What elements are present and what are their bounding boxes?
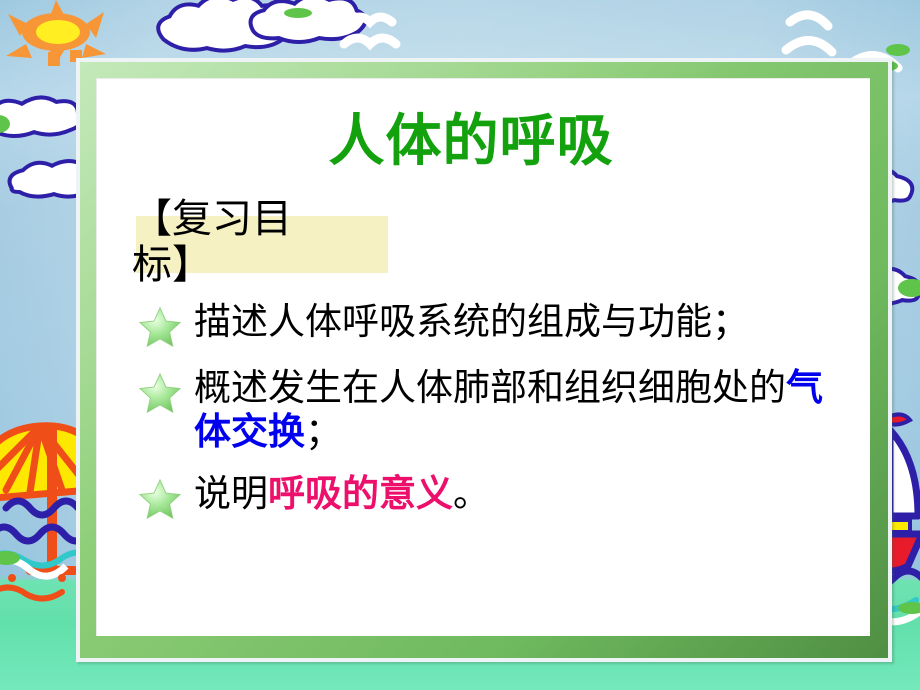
list-item-text: 描述人体呼吸系统的组成与功能；	[194, 300, 749, 344]
list-item: 说明呼吸的意义。	[138, 472, 852, 520]
segment-plain: 。	[453, 472, 490, 515]
green-star-bullet-icon	[138, 478, 182, 520]
list-item-text: 说明呼吸的意义。	[194, 472, 490, 516]
objectives-list: 描述人体呼吸系统的组成与功能；	[138, 300, 852, 538]
segment-plain: 说明	[194, 472, 268, 515]
list-item-text: 概述发生在人体肺部和组织细胞处的气体交换；	[194, 366, 852, 454]
heading-text: 【复习目标】	[132, 196, 332, 288]
green-star-bullet-icon	[138, 372, 182, 414]
presentation-slide: www.zixin.com.cn 人体的呼吸 【复习目标】	[0, 0, 920, 690]
content-card: 人体的呼吸 【复习目标】	[96, 78, 870, 636]
content-frame: 人体的呼吸 【复习目标】	[80, 62, 888, 658]
segment-plain: ；	[305, 410, 342, 453]
list-item: 概述发生在人体肺部和组织细胞处的气体交换；	[138, 366, 852, 454]
list-item: 描述人体呼吸系统的组成与功能；	[138, 300, 852, 348]
segment-plain: 概述发生在人体肺部和组织细胞处的	[194, 366, 786, 409]
green-star-bullet-icon	[138, 306, 182, 348]
review-objectives-heading: 【复习目标】	[132, 196, 432, 288]
page-title: 人体的呼吸	[96, 114, 870, 170]
segment-keyword-pink: 呼吸的意义	[268, 472, 453, 515]
segment-plain: 描述人体呼吸系统的组成与功能；	[194, 300, 749, 343]
